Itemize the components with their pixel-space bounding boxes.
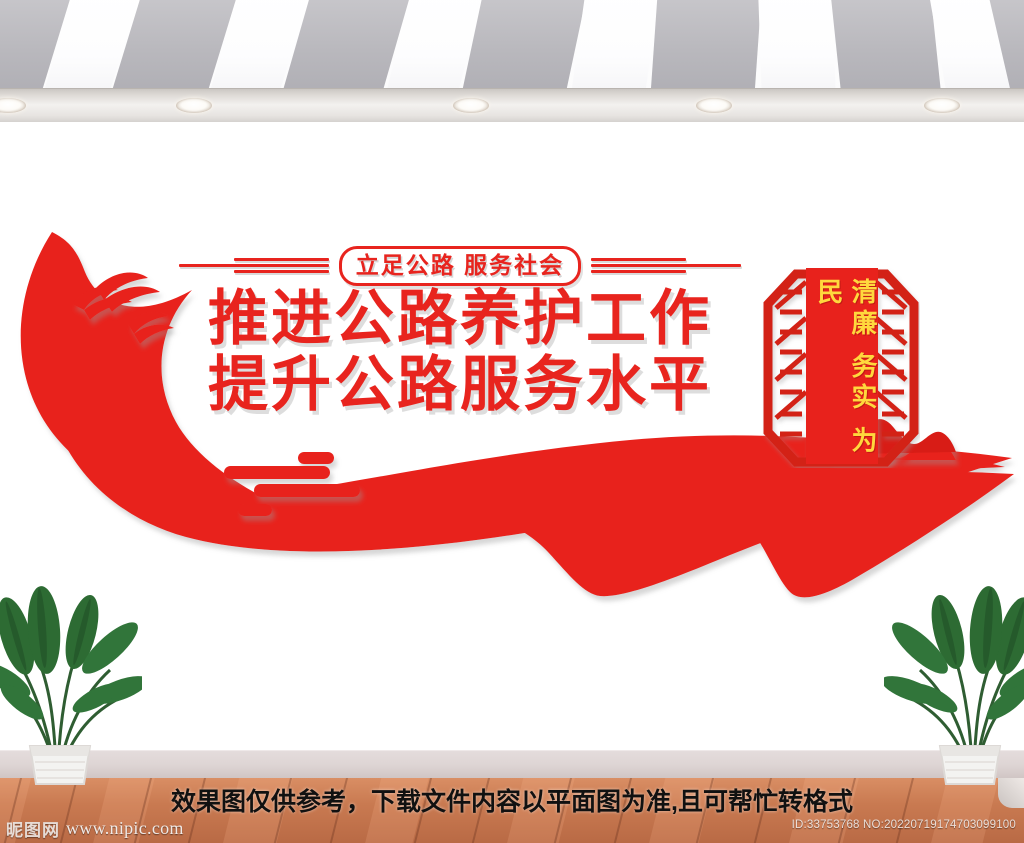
ceiling-light-band <box>0 88 1024 124</box>
footer-caption: 效果图仅供参考，下载文件内容以平面图为准,且可帮忙转格式 <box>0 782 1024 818</box>
watermark: 昵图网 www.nipic.com <box>6 816 184 841</box>
watermark-brand: 昵图网 <box>6 816 60 841</box>
ceiling <box>0 0 1024 92</box>
banner-text: 清廉 务实 为民 <box>812 278 880 458</box>
recessed-downlight-icon <box>924 98 960 113</box>
recessed-downlight-icon <box>453 98 489 113</box>
headline-line-1: 推进公路养护工作 <box>150 284 770 354</box>
asset-id-text: ID:33753768 NO:20220719174703099100 <box>792 819 1016 831</box>
potted-plant-icon <box>0 570 142 785</box>
recessed-downlight-icon <box>0 98 26 113</box>
recessed-downlight-icon <box>176 98 212 113</box>
decor-line-left-icon <box>179 255 329 277</box>
potted-plant-icon <box>884 570 1024 785</box>
tagline-text: 立足公路 服务社会 <box>356 252 564 278</box>
potted-plant-left <box>0 570 142 785</box>
potted-plant-right <box>884 570 1024 785</box>
headline-block: 立足公路 服务社会 推进公路养护工作 提升公路服务水平 <box>150 248 770 420</box>
tagline-box: 立足公路 服务社会 <box>339 246 581 286</box>
vertical-banner: 清廉 务实 为民 <box>762 268 920 468</box>
watermark-url: www.nipic.com <box>66 818 184 839</box>
baseboard <box>0 750 1024 779</box>
tagline-row: 立足公路 服务社会 <box>150 248 770 284</box>
banner-text-wrap: 清廉 务实 为民 <box>822 278 870 458</box>
poster-canvas: 立足公路 服务社会 推进公路养护工作 提升公路服务水平 <box>0 0 1024 843</box>
decor-line-right-icon <box>591 255 741 277</box>
headline-line-2: 提升公路服务水平 <box>150 350 770 420</box>
recessed-downlight-icon <box>696 98 732 113</box>
